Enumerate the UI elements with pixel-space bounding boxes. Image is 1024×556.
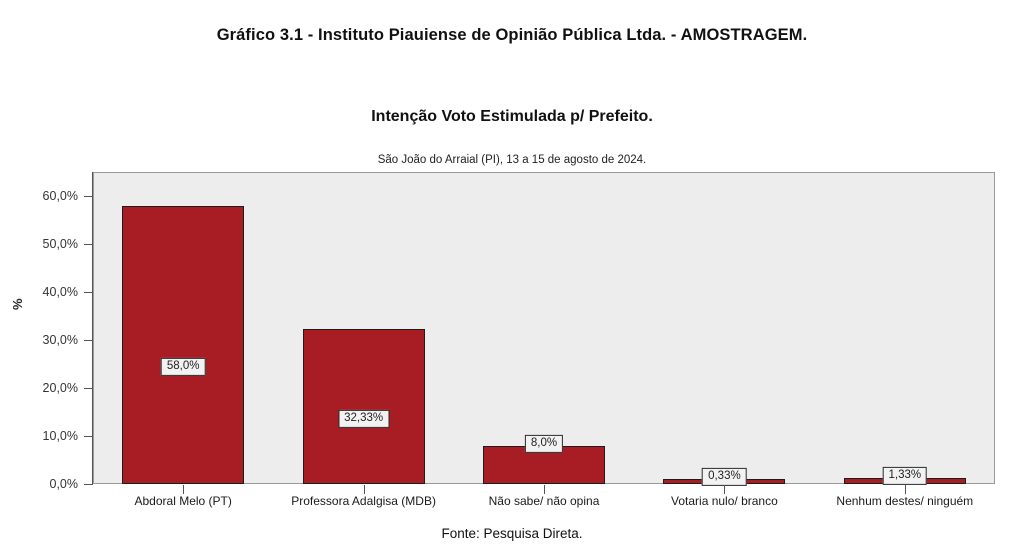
y-axis-tick-label: 0,0%	[22, 477, 78, 491]
y-axis-tick-label: 40,0%	[22, 285, 78, 299]
chart-title: Intenção Voto Estimulada p/ Prefeito.	[0, 108, 1024, 126]
bar-value-label: 32,33%	[338, 410, 389, 428]
y-axis-tick-label: 10,0%	[22, 429, 78, 443]
y-axis-tick-mark	[84, 196, 92, 197]
x-axis-category-label: Votaria nulo/ branco	[671, 494, 778, 508]
bar	[303, 329, 425, 484]
bar	[122, 206, 244, 484]
y-axis-line	[92, 172, 93, 485]
x-axis-tick-mark	[364, 485, 365, 494]
x-axis-tick-mark	[544, 485, 545, 494]
bar-value-label: 58,0%	[161, 358, 206, 376]
bar-value-label: 0,33%	[702, 468, 747, 486]
x-axis-tick-mark	[183, 485, 184, 494]
x-axis-tick-mark	[905, 485, 906, 494]
x-axis-category-label: Abdoral Melo (PT)	[135, 494, 232, 508]
source-note: Fonte: Pesquisa Direta.	[0, 526, 1024, 541]
y-axis-tick-mark	[84, 388, 92, 389]
report-main-title: Gráfico 3.1 - Instituto Piauiense de Opi…	[0, 26, 1024, 45]
y-axis-tick-label: 60,0%	[22, 189, 78, 203]
x-axis-tick-mark	[724, 485, 725, 494]
y-axis-title: %	[10, 298, 25, 310]
x-axis-category-label: Não sabe/ não opina	[489, 494, 600, 508]
x-axis-category-label: Professora Adalgisa (MDB)	[291, 494, 436, 508]
chart-subtitle: São João do Arraial (PI), 13 a 15 de ago…	[0, 154, 1024, 166]
y-axis-tick-label: 30,0%	[22, 333, 78, 347]
y-axis-tick-mark	[84, 244, 92, 245]
y-axis-tick-label: 50,0%	[22, 237, 78, 251]
y-axis-tick-mark	[84, 436, 92, 437]
y-axis-tick-label: 20,0%	[22, 381, 78, 395]
y-axis-tick-mark	[84, 292, 92, 293]
bar-value-label: 8,0%	[525, 434, 563, 452]
y-axis-tick-mark	[84, 484, 92, 485]
y-axis-tick-mark	[84, 340, 92, 341]
bar-value-label: 1,33%	[882, 467, 927, 485]
x-axis-category-label: Nenhum destes/ ninguém	[836, 494, 973, 508]
